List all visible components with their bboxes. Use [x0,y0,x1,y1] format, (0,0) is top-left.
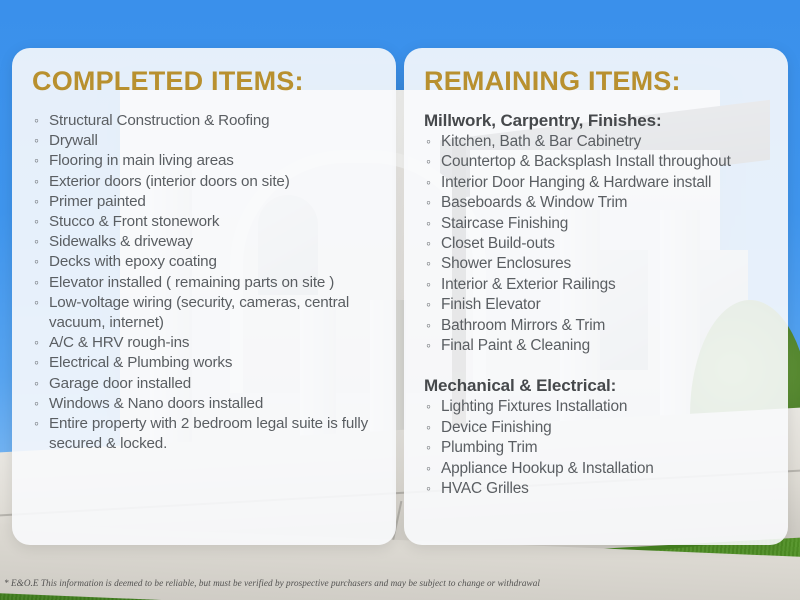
list-item: Device Finishing [426,418,770,438]
list-item: Exterior doors (interior doors on site) [34,172,378,192]
list-item: Flooring in main living areas [34,151,378,171]
section-heading-millwork: Millwork, Carpentry, Finishes: [424,111,770,131]
section-heading-mechanical: Mechanical & Electrical: [424,376,770,396]
list-item: Baseboards & Window Trim [426,193,770,213]
millwork-items-list: Kitchen, Bath & Bar Cabinetry Countertop… [422,132,770,356]
list-item: Stucco & Front stonework [34,212,378,232]
list-item: Closet Build-outs [426,234,770,254]
list-item: Finish Elevator [426,295,770,315]
remaining-items-title: REMAINING ITEMS: [424,66,770,97]
list-item: Shower Enclosures [426,254,770,274]
list-item: Interior & Exterior Railings [426,275,770,295]
list-item: Primer painted [34,192,378,212]
list-item: A/C & HRV rough-ins [34,333,378,353]
list-item: Garage door installed [34,374,378,394]
list-item: Windows & Nano doors installed [34,394,378,414]
list-item: Interior Door Hanging & Hardware install [426,173,770,193]
list-item: Staircase Finishing [426,214,770,234]
list-item: Plumbing Trim [426,438,770,458]
list-item: Electrical & Plumbing works [34,353,378,373]
list-item: Kitchen, Bath & Bar Cabinetry [426,132,770,152]
completed-items-title: COMPLETED ITEMS: [32,66,378,97]
list-item: Appliance Hookup & Installation [426,459,770,479]
list-item: Drywall [34,131,378,151]
mechanical-items-list: Lighting Fixtures Installation Device Fi… [422,397,770,499]
list-item: Entire property with 2 bedroom legal sui… [34,414,378,454]
list-item: Low-voltage wiring (security, cameras, c… [34,293,378,333]
list-item: Countertop & Backsplash Install througho… [426,152,770,172]
remaining-items-panel: REMAINING ITEMS: Millwork, Carpentry, Fi… [404,48,788,545]
list-item: Lighting Fixtures Installation [426,397,770,417]
list-item: Elevator installed ( remaining parts on … [34,273,378,293]
list-item: Final Paint & Cleaning [426,336,770,356]
slide-canvas: COMPLETED ITEMS: Structural Construction… [0,0,800,600]
list-item: Sidewalks & driveway [34,232,378,252]
list-item: Structural Construction & Roofing [34,111,378,131]
list-item: HVAC Grilles [426,479,770,499]
completed-items-list: Structural Construction & Roofing Drywal… [30,111,378,454]
list-item: Bathroom Mirrors & Trim [426,316,770,336]
list-item: Decks with epoxy coating [34,252,378,272]
completed-items-panel: COMPLETED ITEMS: Structural Construction… [12,48,396,545]
disclaimer-text: * E&O.E This information is deemed to be… [4,578,540,588]
